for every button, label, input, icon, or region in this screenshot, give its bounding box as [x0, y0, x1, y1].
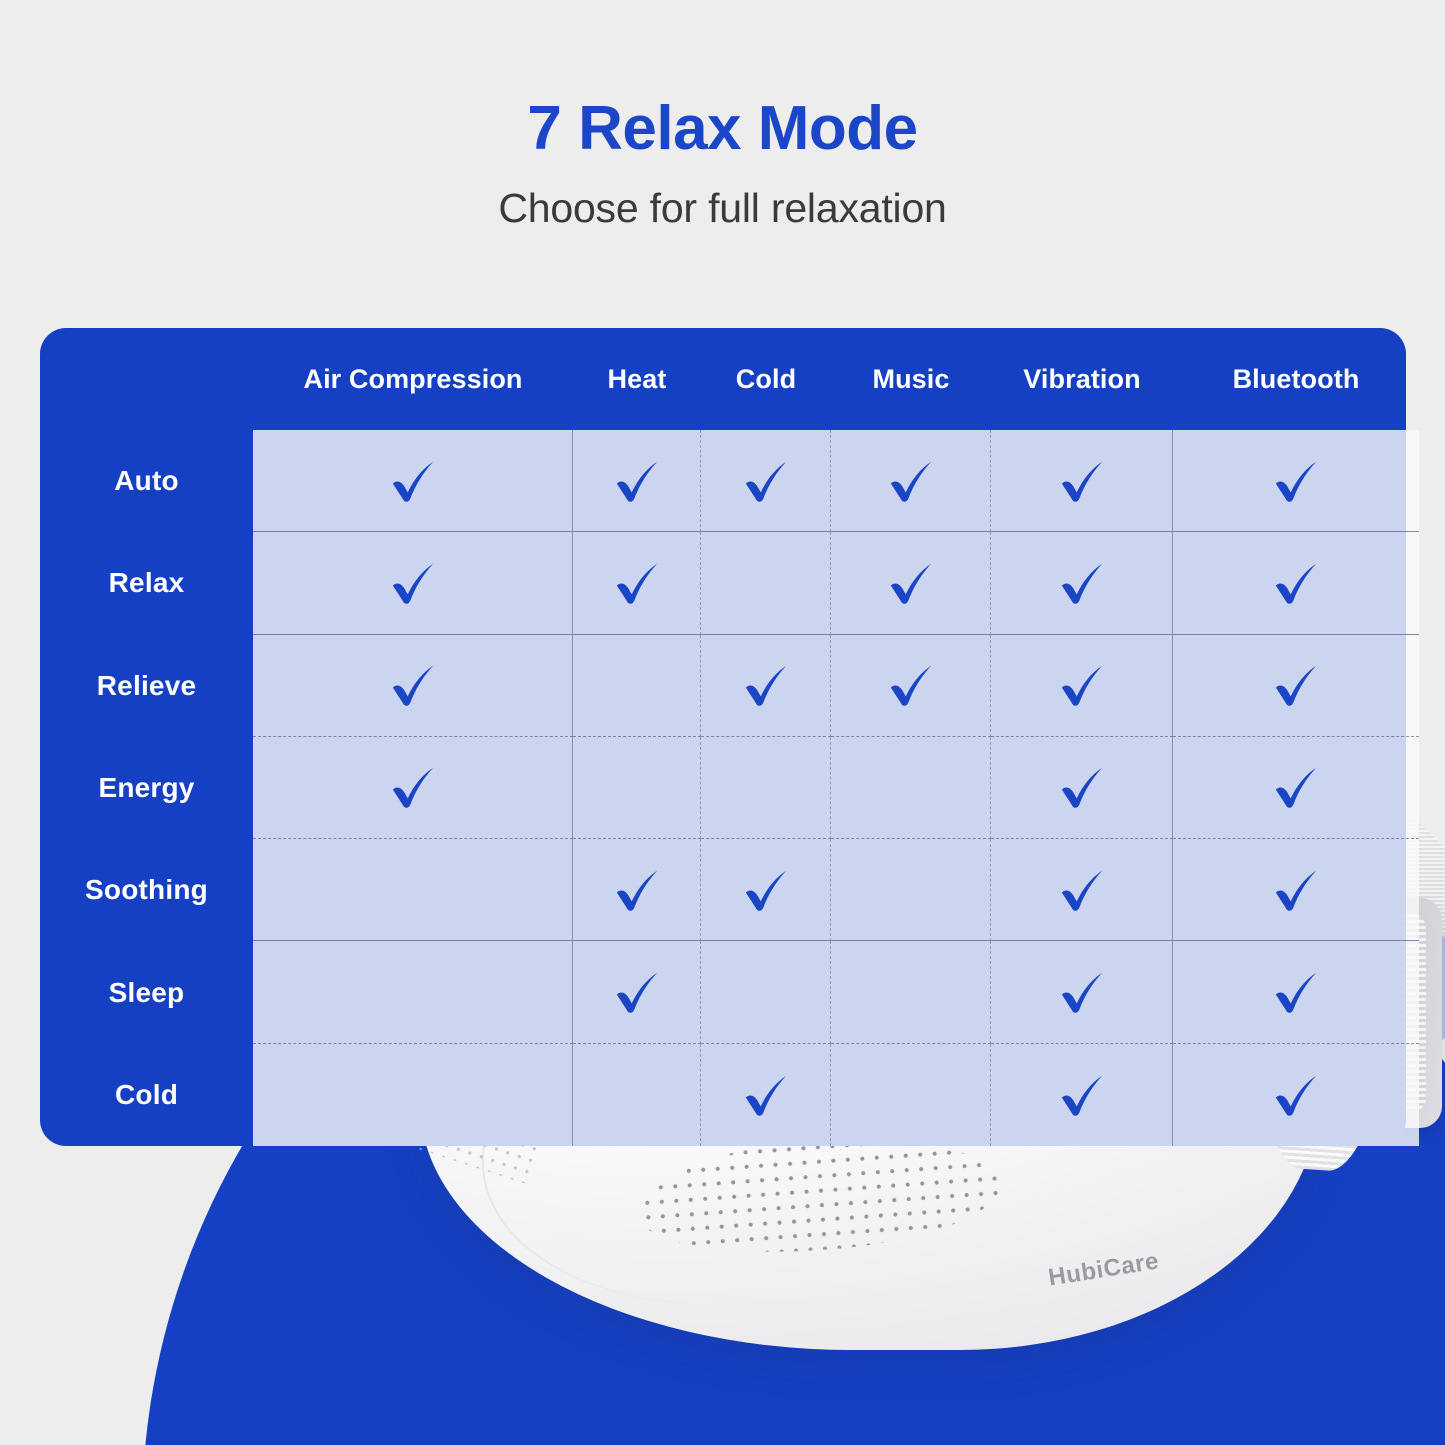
cell-sleep-bluetooth — [1173, 941, 1419, 1043]
column-header-heat: Heat — [573, 364, 701, 395]
cell-energy-bluetooth — [1173, 737, 1419, 839]
cell-soothing-air-compression — [253, 839, 573, 941]
cell-soothing-music — [831, 839, 991, 941]
cell-auto-heat — [573, 430, 701, 532]
check-icon — [385, 453, 441, 509]
cell-energy-air-compression — [253, 737, 573, 839]
check-icon — [385, 555, 441, 611]
cell-sleep-vibration — [991, 941, 1173, 1043]
header-block: 7 Relax Mode Choose for full relaxation — [0, 96, 1445, 232]
cell-relax-vibration — [991, 532, 1173, 634]
check-icon — [609, 964, 665, 1020]
check-icon — [609, 453, 665, 509]
cell-soothing-cold — [701, 839, 831, 941]
cell-relax-bluetooth — [1173, 532, 1419, 634]
row-label-cold: Cold — [40, 1044, 253, 1146]
check-icon — [1268, 555, 1324, 611]
row-label-relax: Relax — [40, 532, 253, 634]
check-icon — [1054, 862, 1110, 918]
cell-relax-cold — [701, 532, 831, 634]
cell-auto-music — [831, 430, 991, 532]
page-title: 7 Relax Mode — [0, 96, 1445, 161]
check-icon — [385, 759, 441, 815]
check-icon — [1268, 657, 1324, 713]
column-header-music: Music — [831, 364, 991, 395]
check-icon — [1054, 964, 1110, 1020]
row-label-relieve: Relieve — [40, 635, 253, 737]
check-icon — [1268, 862, 1324, 918]
cell-sleep-air-compression — [253, 941, 573, 1043]
page-subtitle: Choose for full relaxation — [0, 185, 1445, 232]
cell-sleep-cold — [701, 941, 831, 1043]
row-label-soothing: Soothing — [40, 839, 253, 941]
cell-auto-vibration — [991, 430, 1173, 532]
cell-relieve-bluetooth — [1173, 635, 1419, 737]
cell-soothing-heat — [573, 839, 701, 941]
cell-sleep-heat — [573, 941, 701, 1043]
check-icon — [883, 555, 939, 611]
column-header-bluetooth: Bluetooth — [1173, 364, 1419, 395]
check-icon — [883, 657, 939, 713]
check-icon — [609, 555, 665, 611]
cell-energy-vibration — [991, 737, 1173, 839]
check-icon — [1054, 555, 1110, 611]
cell-cold-bluetooth — [1173, 1044, 1419, 1146]
cell-relieve-music — [831, 635, 991, 737]
check-icon — [883, 453, 939, 509]
cell-relax-heat — [573, 532, 701, 634]
column-header-vibration: Vibration — [991, 364, 1173, 395]
cell-relax-air-compression — [253, 532, 573, 634]
cell-cold-heat — [573, 1044, 701, 1146]
cell-energy-music — [831, 737, 991, 839]
check-icon — [1054, 453, 1110, 509]
cell-relax-music — [831, 532, 991, 634]
check-icon — [1054, 1067, 1110, 1123]
check-icon — [1268, 1067, 1324, 1123]
cell-auto-air-compression — [253, 430, 573, 532]
table-body-grid — [253, 430, 1406, 1146]
table-header-row: Air CompressionHeatColdMusicVibrationBlu… — [253, 328, 1406, 430]
cell-relieve-heat — [573, 635, 701, 737]
infographic-canvas: HubiCare 7 Relax Mode Choose for full re… — [0, 0, 1445, 1445]
check-icon — [1054, 657, 1110, 713]
cell-sleep-music — [831, 941, 991, 1043]
cell-auto-bluetooth — [1173, 430, 1419, 532]
row-label-auto: Auto — [40, 430, 253, 532]
check-icon — [738, 1067, 794, 1123]
cell-auto-cold — [701, 430, 831, 532]
check-icon — [1268, 759, 1324, 815]
cell-cold-music — [831, 1044, 991, 1146]
table-row-label-column: AutoRelaxRelieveEnergySoothingSleepCold — [40, 430, 253, 1146]
cell-energy-heat — [573, 737, 701, 839]
cell-soothing-bluetooth — [1173, 839, 1419, 941]
column-header-air-compression: Air Compression — [253, 364, 573, 395]
check-icon — [738, 657, 794, 713]
check-icon — [1268, 964, 1324, 1020]
cell-soothing-vibration — [991, 839, 1173, 941]
cell-relieve-air-compression — [253, 635, 573, 737]
column-header-cold: Cold — [701, 364, 831, 395]
cell-cold-cold — [701, 1044, 831, 1146]
cell-energy-cold — [701, 737, 831, 839]
cell-cold-vibration — [991, 1044, 1173, 1146]
cell-relieve-vibration — [991, 635, 1173, 737]
row-label-sleep: Sleep — [40, 941, 253, 1043]
row-label-energy: Energy — [40, 737, 253, 839]
mode-comparison-table: Air CompressionHeatColdMusicVibrationBlu… — [40, 328, 1406, 1146]
check-icon — [1268, 453, 1324, 509]
check-icon — [609, 862, 665, 918]
check-icon — [738, 453, 794, 509]
cell-relieve-cold — [701, 635, 831, 737]
check-icon — [385, 657, 441, 713]
check-icon — [1054, 759, 1110, 815]
cell-cold-air-compression — [253, 1044, 573, 1146]
check-icon — [738, 862, 794, 918]
